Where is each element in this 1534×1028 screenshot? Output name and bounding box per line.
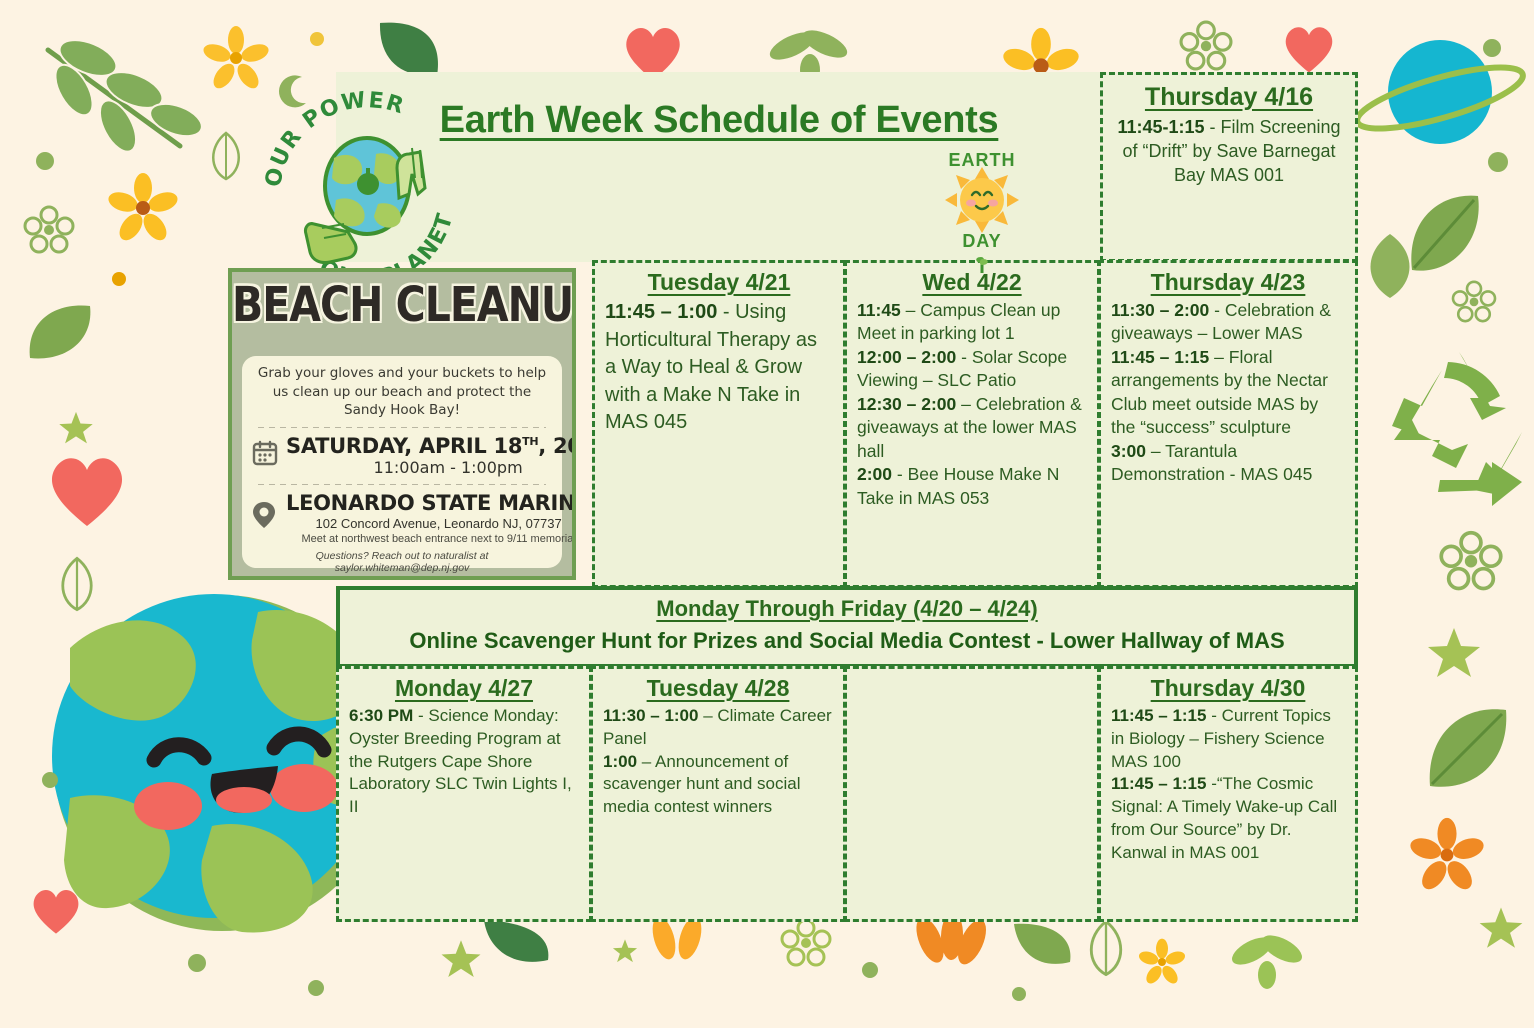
event-sep: – xyxy=(1209,347,1228,367)
day-heading-apr30: Thursday 4/30 xyxy=(1111,675,1345,702)
green-leaf-icon xyxy=(1010,920,1078,976)
green-dot-icon xyxy=(1010,985,1028,1003)
day-heading-apr22: Wed 4/22 xyxy=(857,269,1087,296)
event-time: 11:45 – 1:15 xyxy=(1111,706,1206,725)
outline-flower-icon xyxy=(1440,530,1502,590)
green-dot-icon xyxy=(110,270,128,288)
ringed-planet-icon xyxy=(1368,20,1534,180)
green-star-icon xyxy=(440,938,482,980)
day-cell-empty xyxy=(844,666,1100,922)
red-heart-icon xyxy=(28,885,84,937)
day-cell-apr27: Monday 4/27 6:30 PM - Science Monday: Oy… xyxy=(336,666,592,922)
flyer-date-text: SATURDAY, APRIL 18 xyxy=(286,434,522,458)
event-time: 11:30 – 2:00 xyxy=(1111,300,1209,320)
event-sep: - xyxy=(1206,706,1221,725)
day-cell-apr28: Tuesday 4/28 11:30 – 1:00 – Climate Care… xyxy=(590,666,846,922)
green-dot-icon xyxy=(186,952,208,974)
outline-flower-icon xyxy=(1452,280,1496,322)
flyer-date-sup: TH xyxy=(522,435,538,448)
event-time: 1:00 xyxy=(603,752,637,771)
event-time: 12:30 – 2:00 xyxy=(857,394,956,414)
outline-flower-icon xyxy=(24,205,74,253)
earth-week-poster: Earth Week Schedule of Events Thursday 4… xyxy=(0,0,1534,1028)
green-star-icon xyxy=(1426,625,1482,681)
leaf-branch-icon xyxy=(30,28,210,168)
orange-flower-icon xyxy=(910,918,990,970)
green-leaf-icon xyxy=(1230,925,1302,991)
flyer-divider xyxy=(258,427,546,428)
green-leaf-icon xyxy=(24,300,98,364)
event-sep: - xyxy=(1209,300,1225,320)
green-star-icon xyxy=(612,938,638,964)
yellow-flower-icon xyxy=(648,918,706,964)
flyer-address: 102 Concord Avenue, Leonardo NJ, 07737 xyxy=(286,516,576,531)
event-list-apr21: 11:45 – 1:00 - Using Horticultural Thera… xyxy=(605,299,833,437)
event-sep: - xyxy=(413,706,428,725)
green-star-icon xyxy=(1478,905,1524,951)
title-band: Earth Week Schedule of Events xyxy=(336,72,1102,262)
event-sep: – xyxy=(1146,441,1165,461)
day-cell-apr21: Tuesday 4/21 11:45 – 1:00 - Using Hortic… xyxy=(592,260,846,588)
event-time: 2:00 xyxy=(857,464,892,484)
flyer-time: 11:00am - 1:00pm xyxy=(286,458,576,477)
event-sep: - xyxy=(1206,774,1216,793)
green-dot-icon xyxy=(308,30,326,48)
event-sep: - xyxy=(1205,117,1221,137)
day-cell-apr16: Thursday 4/16 11:45-1:15 - Film Screenin… xyxy=(1100,72,1358,262)
yellow-flower-icon xyxy=(110,175,176,241)
event-time: 11:30 – 1:00 xyxy=(603,706,698,725)
event-sep: – xyxy=(637,752,655,771)
event-time: 6:30 PM xyxy=(349,706,413,725)
event-time: 3:00 xyxy=(1111,441,1146,461)
green-leaf-icon xyxy=(52,555,102,613)
event-time: 12:00 – 2:00 xyxy=(857,347,956,367)
flyer-lead-text: Grab your gloves and your buckets to hel… xyxy=(252,364,552,420)
day-cell-apr23: Thursday 4/23 11:30 – 2:00 - Celebration… xyxy=(1098,260,1358,588)
day-cell-apr22: Wed 4/22 11:45 – Campus Clean up Meet in… xyxy=(844,260,1100,588)
crescent-moon-icon xyxy=(272,72,312,112)
event-time: 11:45-1:15 xyxy=(1117,117,1204,137)
event-time: 11:45 – 1:00 xyxy=(605,301,717,323)
day-heading-apr27: Monday 4/27 xyxy=(349,675,579,702)
event-time: 11:45 – 1:15 xyxy=(1111,774,1206,793)
event-time: 11:45 xyxy=(857,300,901,320)
day-heading-apr16: Thursday 4/16 xyxy=(1111,83,1347,112)
flyer-card: Grab your gloves and your buckets to hel… xyxy=(242,356,562,568)
green-leaf-icon xyxy=(1420,700,1516,796)
page-title: Earth Week Schedule of Events xyxy=(440,99,999,142)
day-heading-apr28: Tuesday 4/28 xyxy=(603,675,833,702)
outline-flower-icon xyxy=(1180,20,1232,70)
event-list-apr28: 11:30 – 1:00 – Climate Career Panel 1:00… xyxy=(603,705,833,819)
yellow-flower-icon xyxy=(1140,940,1184,984)
green-dot-icon xyxy=(40,770,60,790)
flyer-note: Meet at northwest beach entrance next to… xyxy=(286,533,576,545)
flyer-venue: LEONARDO STATE MARINA xyxy=(286,491,576,515)
calendar-icon xyxy=(252,440,278,471)
event-list-apr30: 11:45 – 1:15 - Current Topics in Biology… xyxy=(1111,705,1345,864)
day-heading-apr21: Tuesday 4/21 xyxy=(605,269,833,296)
red-heart-icon xyxy=(44,450,130,530)
banner-heading: Monday Through Friday (4/20 – 4/24) xyxy=(340,596,1354,622)
green-star-icon xyxy=(58,410,94,446)
event-list-apr23: 11:30 – 2:00 - Celebration & giveaways –… xyxy=(1111,299,1345,487)
day-cell-apr30: Thursday 4/30 11:45 – 1:15 - Current Top… xyxy=(1098,666,1358,922)
banner-subheading: Online Scavenger Hunt for Prizes and Soc… xyxy=(340,628,1354,654)
green-leaf-icon xyxy=(1400,190,1486,280)
flyer-date-year: , 2026 xyxy=(538,434,576,458)
event-sep: – xyxy=(901,300,920,320)
flyer-divider xyxy=(258,484,546,485)
yellow-flower-icon xyxy=(205,28,267,90)
outline-flower-icon xyxy=(780,918,832,966)
flyer-title: BEACH CLEANUP xyxy=(232,276,572,333)
green-leaf-icon xyxy=(1080,918,1132,978)
red-heart-icon xyxy=(1280,22,1338,76)
event-list-apr27: 6:30 PM - Science Monday: Oyster Breedin… xyxy=(349,705,579,819)
event-sep: - xyxy=(892,464,908,484)
week-long-banner: Monday Through Friday (4/20 – 4/24) Onli… xyxy=(336,586,1358,668)
flyer-questions: Questions? Reach out to naturalist at sa… xyxy=(252,550,552,574)
green-leaf-icon xyxy=(1360,230,1420,302)
event-list-apr22: 11:45 – Campus Clean up Meet in parking … xyxy=(857,299,1087,510)
orange-flower-icon xyxy=(1412,820,1482,890)
event-sep: - xyxy=(956,347,972,367)
recycle-symbol-icon xyxy=(1382,340,1534,520)
flyer-date: SATURDAY, APRIL 18TH, 2026 xyxy=(286,434,576,458)
day-heading-apr23: Thursday 4/23 xyxy=(1111,269,1345,296)
event-sep: – xyxy=(956,394,975,414)
location-pin-icon xyxy=(252,501,278,534)
beach-cleanup-flyer: BEACH CLEANUP Grab your gloves and your … xyxy=(228,268,576,580)
event-sep: – xyxy=(698,706,717,725)
smiling-earth-icon xyxy=(62,588,382,938)
green-dot-icon xyxy=(860,960,880,980)
green-dot-icon xyxy=(306,978,326,998)
event-sep: - xyxy=(717,301,735,323)
event-time: 11:45 – 1:15 xyxy=(1111,347,1209,367)
green-leaf-icon xyxy=(205,130,247,182)
event-list-apr16: 11:45-1:15 - Film Screening of “Drift” b… xyxy=(1111,116,1347,187)
flyer-date-row: SATURDAY, APRIL 18TH, 2026 11:00am - 1:0… xyxy=(252,434,552,477)
green-leaf-icon xyxy=(480,918,556,978)
green-dot-icon xyxy=(34,150,56,172)
flyer-venue-row: LEONARDO STATE MARINA 102 Concord Avenue… xyxy=(252,491,552,545)
